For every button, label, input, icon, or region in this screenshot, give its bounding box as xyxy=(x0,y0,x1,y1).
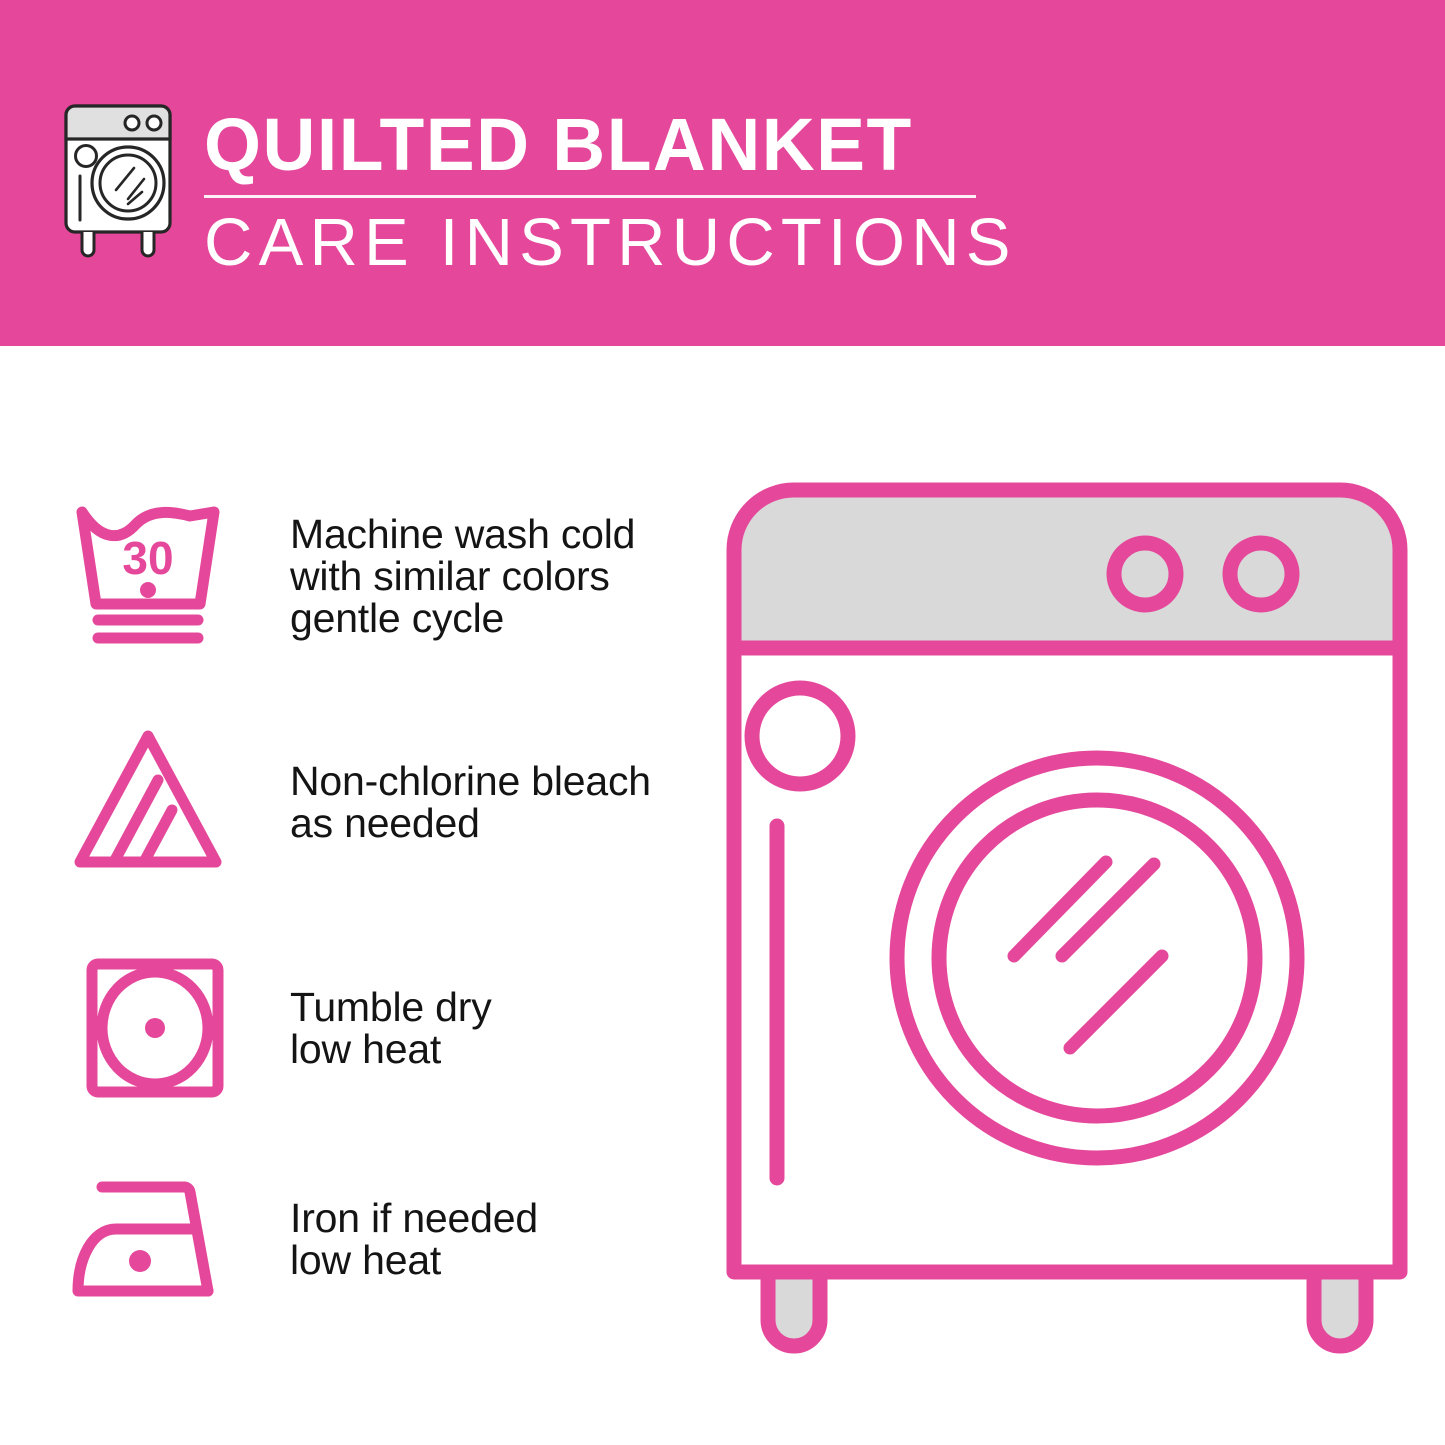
page-subtitle: CARE INSTRUCTIONS xyxy=(204,205,994,281)
care-text-wash: Machine wash cold with similar colors ge… xyxy=(290,513,700,639)
care-row-dry: Tumble dry low heat xyxy=(0,948,700,1108)
header-text-block: QUILTED BLANKET CARE INSTRUCTIONS xyxy=(204,104,994,281)
care-symbol-list: 30 Machine wash cold with similar colors… xyxy=(0,346,700,1445)
care-row-iron: Iron if needed low heat xyxy=(0,1159,700,1319)
tumble-dry-low-heat-icon xyxy=(62,948,242,1108)
header-banner: QUILTED BLANKET CARE INSTRUCTIONS xyxy=(0,0,1445,346)
care-text-dry: Tumble dry low heat xyxy=(290,986,700,1070)
care-instructions-page: QUILTED BLANKET CARE INSTRUCTIONS 30 xyxy=(0,0,1445,1445)
machine-leg-left xyxy=(768,1272,820,1346)
care-text-bleach: Non-chlorine bleach as needed xyxy=(290,760,700,844)
front-load-washing-machine-illustration xyxy=(722,478,1412,1368)
machine-leg-right xyxy=(1314,1272,1366,1346)
care-row-bleach: Non-chlorine bleach as needed xyxy=(0,722,700,882)
washing-machine-logo-icon xyxy=(58,100,190,260)
machine-control-panel xyxy=(734,490,1400,648)
non-chlorine-bleach-triangle-icon xyxy=(62,722,242,882)
iron-low-heat-icon xyxy=(62,1159,242,1319)
wash-temperature-label: 30 xyxy=(122,532,173,584)
title-divider xyxy=(204,195,976,198)
page-title: QUILTED BLANKET xyxy=(204,104,986,186)
wash-basin-30-gentle-icon: 30 xyxy=(62,496,242,656)
care-text-iron: Iron if needed low heat xyxy=(290,1197,700,1281)
care-row-wash: 30 Machine wash cold with similar colors… xyxy=(0,496,700,656)
